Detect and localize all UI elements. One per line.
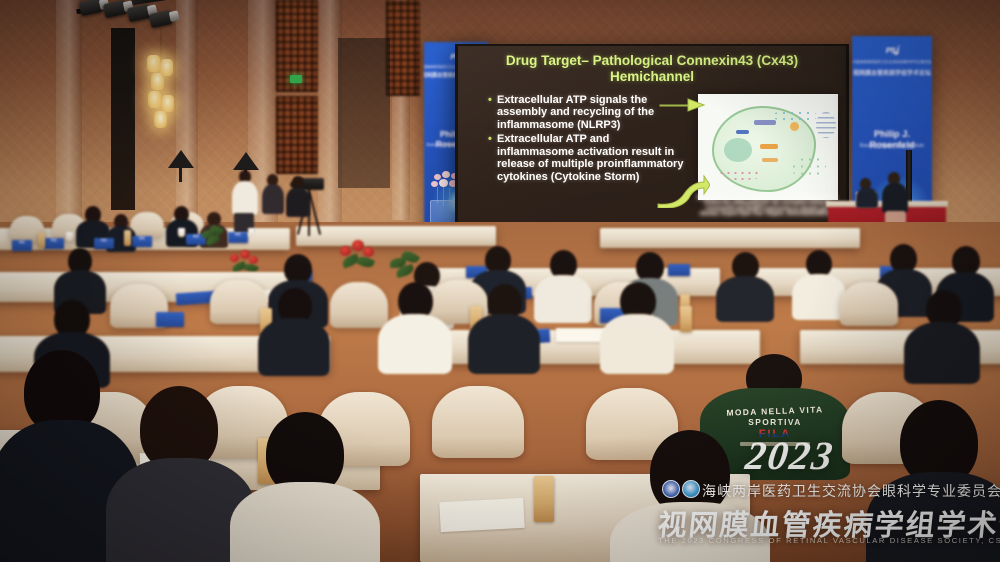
projection-screen: Drug Target– Pathological Connexin43 (Cx… — [458, 46, 846, 242]
diagram-node — [760, 144, 778, 149]
wall-chandelier — [146, 55, 176, 125]
water-bottle — [124, 230, 131, 246]
camera-operator — [232, 170, 258, 232]
delegate-namecard: 姓名 — [12, 240, 32, 251]
jacket-text-line2: SPORTIVA — [700, 417, 850, 427]
audience-person — [378, 282, 452, 372]
audience-person — [904, 290, 980, 382]
psi-logo-icon: ᴘsʝ — [886, 45, 898, 56]
camera-operator-second — [286, 176, 310, 234]
audience-person-front — [230, 412, 380, 562]
audience-person-front — [866, 400, 1000, 562]
decor-plant — [200, 226, 226, 248]
audience-person — [468, 284, 540, 372]
water-bottle — [680, 306, 692, 332]
audience-desk-row — [600, 228, 860, 248]
paper-cup — [178, 228, 185, 237]
slide-citation: Mugisho, O.O. et al. Targeting connexin … — [696, 196, 838, 218]
doorway-dark — [338, 38, 390, 188]
namecard-text: 姓名 — [132, 236, 152, 240]
wall-lattice-panel — [276, 96, 318, 174]
audience-person-front — [610, 430, 770, 562]
banner-right-org-cn: 中国海峡两岸医药卫生交流协会眼科学专业委员会 — [852, 60, 931, 65]
slide-title-line2: Hemichannel — [458, 70, 846, 84]
audience-chair-front — [432, 386, 524, 458]
desk-paper — [439, 498, 524, 532]
diagram-node — [736, 130, 749, 134]
delegate-namecard — [156, 312, 184, 327]
exit-sign-icon — [290, 75, 302, 83]
stage-backdrop-column — [111, 28, 135, 210]
diagram-legend — [816, 112, 836, 138]
green-arrow-top — [658, 94, 706, 114]
paper-cup — [248, 228, 255, 237]
delegate-namecard: 姓名 — [228, 232, 248, 243]
audience-person — [716, 252, 774, 320]
paper-cup — [66, 232, 73, 241]
audience-person — [600, 282, 674, 372]
audience-person — [792, 250, 846, 316]
delegate-namecard: 姓名 — [132, 236, 152, 247]
stage-person-seated — [856, 178, 878, 206]
water-bottle — [38, 232, 45, 248]
diagram-particles — [772, 110, 818, 122]
slide-cell-diagram — [698, 94, 838, 200]
desk-paper — [556, 328, 606, 342]
namecard-text: 姓名 — [12, 240, 32, 244]
wall-lattice-panel — [386, 0, 420, 96]
cell-nucleus — [724, 138, 752, 162]
decor-flowers-red — [338, 238, 378, 272]
diagram-particles — [790, 156, 826, 178]
banner-right-speaker-org: Bascom Palmer Eye Institute — [852, 143, 932, 149]
slide-bullet-list: Extracellular ATP signals the assembly a… — [488, 94, 686, 185]
diagram-node — [790, 122, 799, 131]
namecard-text: 姓名 — [94, 238, 114, 242]
diagram-node — [762, 158, 778, 162]
namecard-text: 姓名 — [44, 238, 64, 242]
audience-chair — [840, 282, 898, 326]
diagram-node — [754, 120, 776, 125]
diagram-particles — [718, 170, 764, 180]
audience-person-standing — [262, 174, 284, 230]
namecard-text: 姓名 — [228, 232, 248, 236]
banner-right-event-cn: 视网膜血管疾病学组学术论坛 — [853, 68, 931, 77]
audience-person — [534, 250, 592, 320]
conference-photo-scene: ᴘsʝ 中国海峡两岸医药卫生交流协会眼科学专业委员会 视网膜血管疾病学组学术论坛… — [0, 0, 1000, 562]
audience-person — [258, 288, 330, 374]
water-bottle — [534, 476, 554, 522]
slide-title-line1: Drug Target– Pathological Connexin43 (Cx… — [458, 54, 846, 68]
